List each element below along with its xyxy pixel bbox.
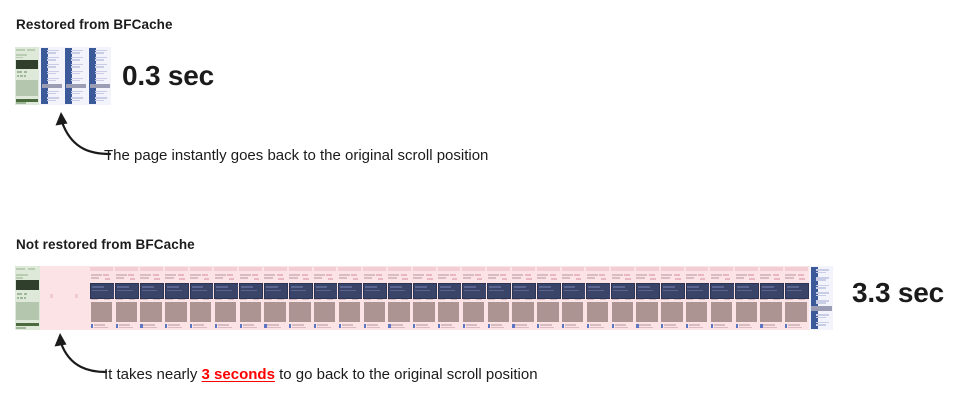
page-block (625, 278, 630, 280)
page-block (91, 277, 99, 279)
page-block (367, 327, 381, 329)
page-block (24, 297, 26, 300)
page-block (20, 75, 22, 77)
page-block (698, 274, 704, 276)
page-block (388, 324, 390, 328)
page-block (289, 302, 310, 321)
page-block (216, 286, 228, 288)
page-block (365, 290, 380, 292)
filmstrip-restored (15, 47, 111, 105)
page-block (339, 277, 347, 279)
page-block (165, 299, 172, 301)
page-block (760, 267, 783, 271)
page-block (413, 324, 415, 328)
page-block (277, 299, 283, 301)
filmstrip-frame (139, 266, 164, 330)
page-block (388, 299, 395, 301)
filmstrip-frame (263, 266, 288, 330)
page-block (190, 302, 211, 321)
page-block (190, 274, 201, 276)
page-block (724, 299, 730, 301)
page-block (143, 327, 157, 329)
page-block (488, 302, 509, 321)
page-block (600, 299, 606, 301)
page-block (811, 321, 815, 326)
page-block (117, 286, 129, 288)
page-block (636, 324, 638, 328)
page-block (130, 278, 135, 280)
page-block (723, 274, 729, 276)
page-block (488, 299, 495, 301)
filmstrip-frame (15, 266, 40, 330)
page-block (438, 274, 449, 276)
page-block (811, 292, 815, 297)
page-block (537, 302, 558, 321)
page-block (562, 324, 564, 328)
page-block (565, 327, 579, 329)
page-block (214, 267, 237, 271)
page-block (165, 274, 176, 276)
filmstrip-frame (89, 266, 114, 330)
page-block (590, 327, 604, 329)
page-block (615, 327, 629, 329)
page-block (388, 267, 411, 271)
filmstrip-not-restored (15, 266, 833, 330)
page-block (649, 299, 655, 301)
page-block (90, 56, 94, 61)
page-block (816, 287, 825, 289)
page-block (636, 277, 644, 279)
page-block (314, 324, 316, 328)
page-block (92, 290, 107, 292)
page-block (71, 93, 80, 94)
page-block (378, 278, 383, 280)
page-block (376, 274, 382, 276)
page-block (537, 267, 560, 271)
page-block (575, 299, 581, 301)
page-block (116, 302, 137, 321)
page-block (562, 299, 569, 301)
page-block (537, 324, 539, 328)
page-block (264, 274, 275, 276)
page-block (491, 327, 505, 329)
page-block (539, 286, 551, 288)
page-block (512, 274, 523, 276)
page-block (140, 274, 151, 276)
page-block (426, 299, 432, 301)
page-block (264, 267, 287, 271)
page-block (364, 274, 375, 276)
filmstrip-frame (313, 266, 338, 330)
page-block (42, 77, 46, 82)
page-block (66, 70, 70, 75)
page-block (326, 274, 332, 276)
page-block (500, 274, 506, 276)
filmstrip-frame (164, 266, 189, 330)
page-block (316, 286, 328, 288)
filmstrip-frame (65, 266, 90, 330)
page-block (178, 299, 184, 301)
page-block (661, 299, 668, 301)
page-block (116, 274, 127, 276)
page-block (514, 286, 526, 288)
page-block (537, 299, 544, 301)
page-block (574, 274, 580, 276)
page-block (587, 324, 589, 328)
page-block (562, 277, 570, 279)
page-block (95, 73, 104, 74)
page-block (71, 64, 83, 66)
page-block (763, 327, 777, 329)
page-block (47, 91, 59, 93)
page-block (95, 71, 107, 73)
page-block (390, 286, 402, 288)
page-block (661, 267, 684, 271)
page-block (811, 299, 815, 304)
page-block (798, 299, 804, 301)
filmstrip-frame (387, 266, 412, 330)
page-block (239, 267, 262, 271)
page-block (811, 313, 815, 318)
filmstrip-frame (660, 266, 685, 330)
page-block (192, 286, 204, 288)
page-block (95, 57, 107, 59)
page-block (92, 286, 104, 288)
page-block (612, 324, 614, 328)
page-block (440, 290, 455, 292)
page-block (599, 274, 605, 276)
page-block (686, 324, 688, 328)
page-block (289, 274, 300, 276)
filmstrip-frame (437, 266, 462, 330)
page-block (95, 50, 107, 52)
page-block (47, 52, 56, 53)
page-block (512, 299, 519, 301)
page-block (75, 294, 78, 298)
page-block (71, 91, 83, 93)
page-block (402, 278, 407, 280)
filmstrip-frame (461, 266, 486, 330)
page-block (47, 78, 59, 80)
page-block (104, 299, 110, 301)
page-block (302, 299, 308, 301)
page-block (16, 99, 38, 102)
page-block (748, 299, 754, 301)
page-block (264, 299, 271, 301)
page-block (240, 324, 242, 328)
page-block (788, 327, 802, 329)
page-block (42, 70, 46, 75)
page-block (351, 274, 357, 276)
page-block (661, 274, 672, 276)
page-block (650, 278, 655, 280)
page-block (388, 274, 399, 276)
page-block (773, 299, 779, 301)
page-block (749, 278, 754, 280)
page-block (71, 100, 80, 101)
page-block (649, 274, 655, 276)
page-block (338, 267, 361, 271)
page-block (488, 277, 496, 279)
page-block (16, 327, 26, 329)
page-block (115, 267, 138, 271)
page-block (663, 290, 678, 292)
page-block (736, 277, 744, 279)
page-block (47, 57, 59, 59)
filmstrip-frame (685, 266, 710, 330)
page-block (71, 66, 80, 67)
page-block (488, 324, 490, 328)
page-block (66, 90, 70, 95)
page-block (264, 302, 285, 321)
page-block (413, 277, 421, 279)
page-block (388, 302, 409, 321)
section-title-restored: Restored from BFCache (16, 17, 173, 32)
duration-label-restored: 0.3 sec (122, 60, 214, 92)
page-block (95, 52, 104, 53)
page-block (377, 299, 383, 301)
caption-not-restored: It takes nearly 3 seconds to go back to … (104, 366, 538, 383)
page-block (71, 57, 83, 59)
page-block (613, 290, 628, 292)
page-block (243, 327, 257, 329)
page-block (736, 324, 738, 328)
page-block (438, 299, 445, 301)
caption-restored: The page instantly goes back to the orig… (104, 147, 488, 164)
page-block (588, 286, 600, 288)
page-block (539, 290, 554, 292)
page-block (562, 267, 585, 271)
page-block (193, 327, 207, 329)
page-block (71, 80, 80, 81)
page-block (816, 272, 825, 274)
page-block (415, 290, 430, 292)
page-block (165, 267, 188, 271)
page-block (562, 302, 583, 321)
page-block (278, 278, 283, 280)
filmstrip-frame (709, 266, 734, 330)
page-block (365, 286, 377, 288)
page-block (90, 90, 94, 95)
page-block (240, 277, 248, 279)
caption-highlight-3-seconds: 3 seconds (202, 366, 275, 383)
page-block (438, 267, 461, 271)
page-block (737, 286, 749, 288)
page-block (785, 274, 796, 276)
page-block (90, 49, 94, 54)
page-block (117, 290, 132, 292)
page-block (292, 327, 306, 329)
page-block (515, 327, 529, 329)
page-block (42, 63, 46, 68)
page-block (512, 277, 520, 279)
page-block (95, 64, 107, 66)
duration-label-not-restored: 3.3 sec (852, 277, 944, 309)
page-block (440, 286, 452, 288)
page-block (736, 299, 743, 301)
page-block (464, 286, 476, 288)
page-block (588, 290, 603, 292)
page-block (587, 277, 595, 279)
page-block (71, 97, 83, 99)
page-block (47, 50, 59, 52)
page-block (364, 324, 366, 328)
page-block (611, 267, 634, 271)
page-block (90, 77, 94, 82)
page-block (42, 97, 46, 102)
page-block (90, 267, 113, 271)
page-block (116, 324, 118, 328)
filmstrip-frame (610, 266, 635, 330)
page-block (71, 71, 83, 73)
page-block (179, 278, 184, 280)
page-block (816, 322, 829, 324)
page-block (215, 324, 217, 328)
page-block (710, 267, 733, 271)
page-block (816, 269, 829, 271)
page-block (340, 290, 355, 292)
page-block (760, 277, 768, 279)
page-block (266, 290, 281, 292)
page-block (16, 54, 27, 56)
page-block (264, 277, 272, 279)
page-block (47, 59, 56, 60)
page-block (525, 299, 531, 301)
page-block (451, 299, 457, 301)
page-block (50, 294, 53, 298)
page-block (16, 57, 23, 59)
page-block (401, 274, 407, 276)
page-block (587, 274, 598, 276)
page-block (167, 286, 179, 288)
page-block (512, 324, 514, 328)
page-block (91, 302, 112, 321)
page-block (550, 274, 556, 276)
page-block (612, 299, 619, 301)
page-block (636, 274, 647, 276)
page-block (512, 267, 535, 271)
page-block (289, 267, 312, 271)
page-block (441, 327, 455, 329)
page-block (785, 324, 787, 328)
page-block (463, 274, 474, 276)
page-block (229, 278, 234, 280)
page-block (413, 302, 434, 321)
page-block (116, 277, 124, 279)
page-block (342, 327, 356, 329)
page-block (167, 290, 182, 292)
page-block (526, 278, 531, 280)
page-block (253, 299, 259, 301)
page-block (215, 274, 226, 276)
filmstrip-frame (759, 266, 784, 330)
page-block (90, 84, 110, 89)
page-block (463, 302, 484, 321)
page-block (811, 269, 815, 274)
page-block (314, 274, 325, 276)
page-block (638, 286, 650, 288)
page-block (415, 286, 427, 288)
page-block (119, 327, 133, 329)
page-block (240, 299, 247, 301)
page-block (760, 302, 781, 321)
page-block (762, 286, 774, 288)
page-block (711, 324, 713, 328)
page-block (711, 299, 718, 301)
page-block (190, 267, 213, 271)
page-block (463, 299, 470, 301)
page-block (489, 290, 504, 292)
filmstrip-frame (585, 266, 610, 330)
page-block (551, 278, 556, 280)
page-block (215, 302, 236, 321)
page-block (463, 324, 465, 328)
page-block (438, 302, 459, 321)
page-block (739, 327, 753, 329)
page-block (601, 278, 606, 280)
page-block (525, 274, 531, 276)
page-block (264, 324, 266, 328)
page-block (90, 97, 94, 102)
page-block (17, 293, 22, 295)
page-block (564, 290, 579, 292)
page-block (291, 290, 306, 292)
page-block (711, 277, 719, 279)
page-block (190, 324, 192, 328)
page-block (153, 274, 159, 276)
page-block (787, 286, 799, 288)
page-block (736, 274, 747, 276)
page-block (586, 267, 609, 271)
page-block (501, 299, 507, 301)
page-block (316, 290, 331, 292)
page-block (91, 324, 93, 328)
page-block (686, 267, 709, 271)
page-block (462, 267, 485, 271)
page-block (140, 299, 147, 301)
page-block (816, 277, 829, 279)
page-block (760, 324, 762, 328)
page-block (816, 314, 829, 316)
page-block (95, 59, 104, 60)
page-block (636, 267, 659, 271)
page-block (289, 277, 297, 279)
page-block (689, 327, 703, 329)
page-block (675, 278, 680, 280)
section-title-not-restored: Not restored from BFCache (16, 237, 195, 252)
page-block (24, 293, 27, 295)
page-block (216, 290, 231, 292)
page-block (203, 299, 209, 301)
page-block (47, 97, 59, 99)
page-block (42, 84, 62, 89)
page-block (427, 278, 432, 280)
page-block (42, 49, 46, 54)
page-block (24, 71, 27, 73)
page-block (16, 302, 38, 320)
page-block (661, 324, 663, 328)
page-block (95, 80, 104, 81)
page-block (639, 327, 653, 329)
page-block (190, 277, 198, 279)
filmstrip-frame (635, 266, 660, 330)
page-block (142, 286, 154, 288)
page-block (562, 274, 573, 276)
page-block (140, 324, 142, 328)
page-block (687, 290, 702, 292)
filmstrip-frame (511, 266, 536, 330)
page-block (95, 93, 104, 94)
